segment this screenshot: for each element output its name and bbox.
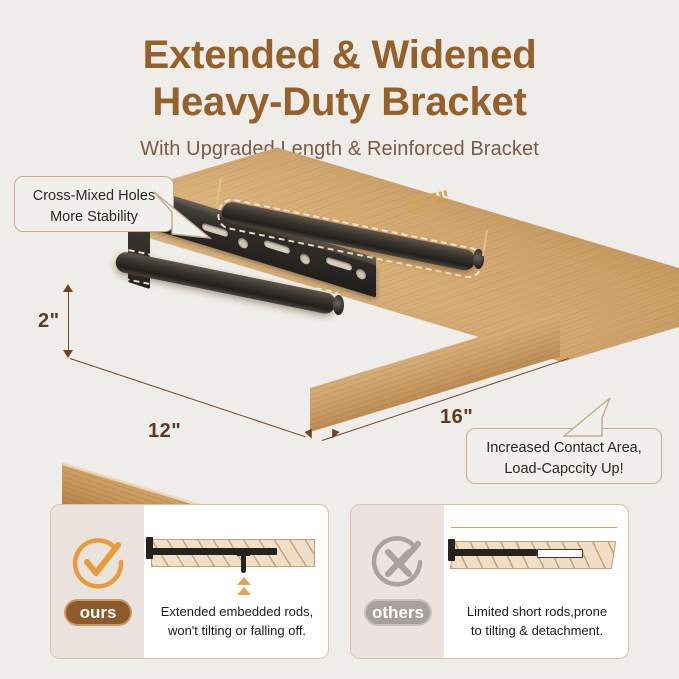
- header: Extended & Widened Heavy-Duty Bracket Wi…: [0, 32, 679, 161]
- ours-caption-line-1: Extended embedded rods,: [147, 603, 327, 622]
- page-title-line-2: Heavy-Duty Bracket: [0, 79, 679, 126]
- rod-end-cap-front: [333, 295, 344, 315]
- callout-right-tail: [560, 396, 630, 446]
- comparison-panel-ours: ours Extended embedded rods, won't tilti…: [50, 504, 329, 659]
- height-dimension-line: [68, 290, 69, 352]
- ours-screw: [241, 553, 246, 573]
- badge-others: others: [364, 599, 432, 626]
- depth-dimension-line: [70, 358, 306, 438]
- height-arrow-down: [63, 350, 73, 358]
- ours-force-arrow: [237, 577, 251, 585]
- bracket-hole: [356, 268, 366, 281]
- x-circle-icon: [371, 535, 425, 589]
- others-caption-line-2: to tilting & detachment.: [447, 622, 627, 641]
- callout-left-tail: [150, 190, 220, 252]
- page-title-line-1: Extended & Widened: [0, 32, 679, 79]
- badge-ours: ours: [64, 599, 132, 626]
- callout-right-line-2: Load-Capccity Up!: [479, 459, 649, 480]
- width-dimension-label: 16": [440, 406, 473, 429]
- others-empty-cavity: [537, 549, 583, 558]
- ours-caption-line-2: won't tilting or falling off.: [147, 622, 327, 641]
- ours-screw-head: [237, 551, 250, 556]
- bracket-slot: [326, 256, 352, 271]
- ours-caption: Extended embedded rods, won't tilting or…: [147, 603, 327, 641]
- ours-force-arrow: [237, 587, 251, 595]
- infographic-root: Extended & Widened Heavy-Duty Bracket Wi…: [0, 0, 679, 679]
- callout-left-line-2: More Stability: [27, 207, 161, 228]
- bracket-hole: [238, 237, 248, 250]
- others-caption-line-1: Limited short rods,prone: [447, 603, 627, 622]
- page-subtitle: With Upgraded Length & Reinforced Bracke…: [0, 138, 679, 161]
- comparison-panel-others: others Limited short rods,prone to tilti…: [350, 504, 629, 659]
- others-short-rod: [453, 549, 537, 556]
- others-caption: Limited short rods,prone to tilting & de…: [447, 603, 627, 641]
- others-reference-line: [451, 527, 617, 528]
- callout-left-line-1: Cross-Mixed Holes: [27, 186, 161, 207]
- check-circle-icon: [71, 535, 125, 589]
- ours-embedded-rod: [151, 548, 277, 555]
- depth-dimension-label: 12": [148, 420, 181, 443]
- height-dimension-label: 2": [38, 310, 60, 333]
- bracket-hole: [300, 252, 310, 265]
- height-arrow-up: [63, 284, 73, 292]
- comparison-section: ours Extended embedded rods, won't tilti…: [0, 500, 679, 668]
- bracket-slot: [264, 239, 290, 254]
